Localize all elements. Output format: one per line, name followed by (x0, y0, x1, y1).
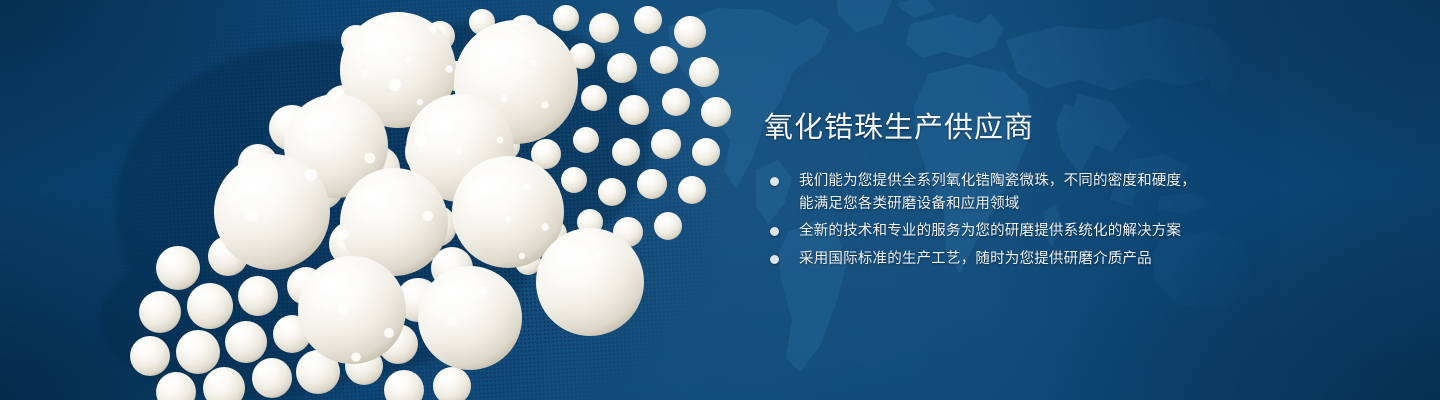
list-item: 采用国际标准的生产工艺，随时为您提供研磨介质产品 (770, 248, 1196, 271)
feature-list: 我们能为您提供全系列氧化锆陶瓷微珠，不同的密度和硬度， 能满足您各类研磨设备和应… (770, 170, 1196, 275)
list-item-line-1: 全新的技术和专业的服务为您的研磨提供系统化的解决方案 (799, 223, 1181, 239)
bullet-dot-icon (770, 227, 779, 236)
bullet-dot-icon (770, 255, 779, 264)
banner-headline: 氧化锆珠生产供应商 (764, 112, 1034, 145)
list-item-line-2: 能满足您各类研磨设备和应用领域 (799, 193, 1196, 216)
list-item: 我们能为您提供全系列氧化锆陶瓷微珠，不同的密度和硬度， 能满足您各类研磨设备和应… (770, 170, 1196, 215)
banner-copy: 氧化锆珠生产供应商 我们能为您提供全系列氧化锆陶瓷微珠，不同的密度和硬度， 能满… (764, 0, 1364, 400)
list-item-line-1: 我们能为您提供全系列氧化锆陶瓷微珠，不同的密度和硬度， (799, 173, 1196, 189)
bullet-dot-icon (770, 177, 779, 186)
hero-banner: 氧化锆珠生产供应商 我们能为您提供全系列氧化锆陶瓷微珠，不同的密度和硬度， 能满… (0, 0, 1440, 400)
list-item: 全新的技术和专业的服务为您的研磨提供系统化的解决方案 (770, 220, 1196, 243)
list-item-line-1: 采用国际标准的生产工艺，随时为您提供研磨介质产品 (799, 251, 1152, 267)
